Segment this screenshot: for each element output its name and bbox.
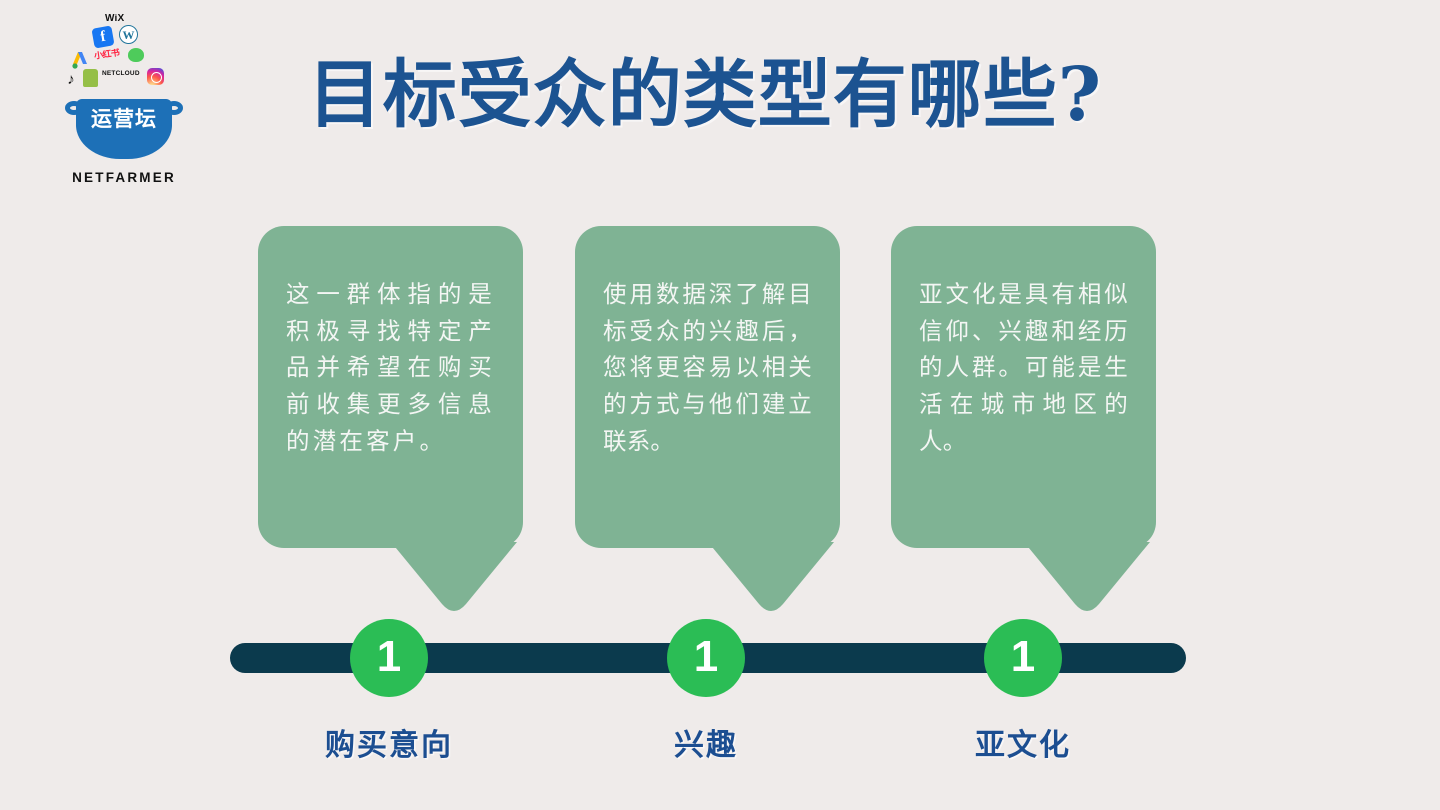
brand-name-en: NETFARMER — [62, 170, 186, 185]
timeline-label-1: 购买意向 — [259, 720, 519, 764]
speech-card-body: 亚文化是具有相似信仰、兴趣和经历的人群。可能是生活在城市地区的人。 — [891, 226, 1156, 548]
speech-card-body: 使用数据深了解目标受众的兴趣后，您将更容易以相关的方式与他们建立联系。 — [575, 226, 840, 548]
wechat-icon — [128, 48, 144, 62]
pot-graphic: 运营坛 — [65, 95, 183, 163]
facebook-icon: f — [91, 25, 114, 48]
page-title: 目标受众的类型有哪些? — [255, 55, 1155, 136]
xiaohongshu-icon: 小红书 — [93, 48, 120, 60]
tiktok-icon: ♪ — [64, 71, 78, 88]
timeline-marker-2[interactable]: 1 — [667, 619, 745, 697]
slide-canvas: WiX f W 小红书 ♪ NETCLOUD 运营坛 NETFARMER — [0, 0, 1440, 810]
timeline-label-3: 亚文化 — [893, 720, 1153, 764]
speech-card-text: 这一群体指的是积极寻找特定产品并希望在购买前收集更多信息的潜在客户。 — [286, 276, 495, 459]
google-ads-icon — [71, 51, 89, 69]
speech-card: 使用数据深了解目标受众的兴趣后，您将更容易以相关的方式与他们建立联系。 — [575, 226, 840, 548]
brand-name-cn: 运营坛 — [76, 109, 172, 130]
speech-card: 亚文化是具有相似信仰、兴趣和经历的人群。可能是生活在城市地区的人。 — [891, 226, 1156, 548]
speech-card-text: 亚文化是具有相似信仰、兴趣和经历的人群。可能是生活在城市地区的人。 — [919, 276, 1128, 459]
speech-card-group: 这一群体指的是积极寻找特定产品并希望在购买前收集更多信息的潜在客户。 使用数据深… — [0, 226, 1440, 556]
shopify-icon — [83, 69, 98, 87]
speech-card: 这一群体指的是积极寻找特定产品并希望在购买前收集更多信息的潜在客户。 — [258, 226, 523, 548]
platform-icon-cluster: WiX f W 小红书 ♪ NETCLOUD — [62, 12, 186, 104]
timeline-marker-1[interactable]: 1 — [350, 619, 428, 697]
timeline: 1 1 1 购买意向 兴趣 亚文化 — [0, 600, 1440, 810]
wix-icon: WiX — [105, 14, 124, 24]
speech-card-body: 这一群体指的是积极寻找特定产品并希望在购买前收集更多信息的潜在客户。 — [258, 226, 523, 548]
brand-logo: WiX f W 小红书 ♪ NETCLOUD 运营坛 NETFARMER — [62, 12, 186, 192]
speech-card-text: 使用数据深了解目标受众的兴趣后，您将更容易以相关的方式与他们建立联系。 — [603, 276, 812, 459]
netcloud-icon: NETCLOUD — [102, 70, 140, 77]
instagram-icon — [147, 68, 164, 85]
wordpress-icon: W — [119, 25, 138, 44]
timeline-marker-3[interactable]: 1 — [984, 619, 1062, 697]
timeline-label-2: 兴趣 — [576, 720, 836, 764]
